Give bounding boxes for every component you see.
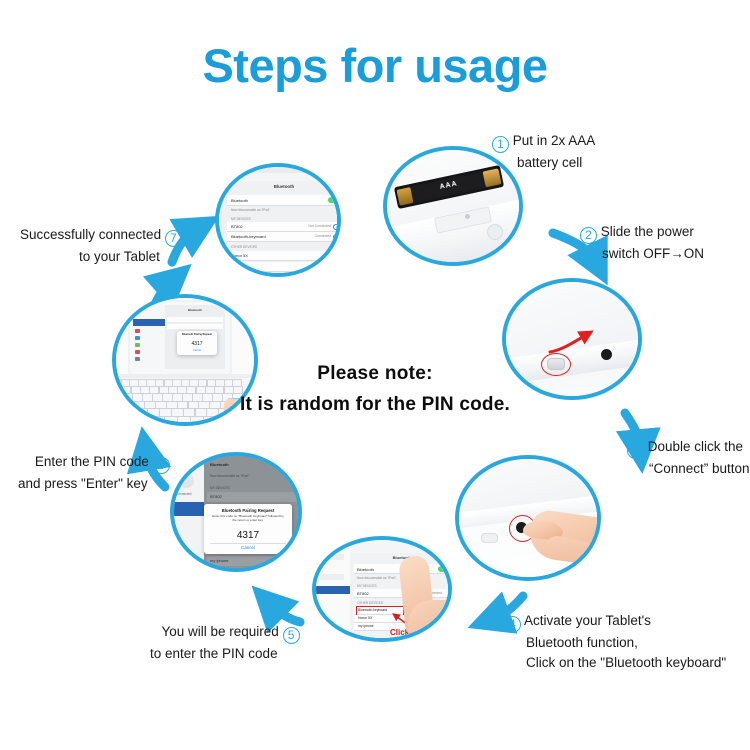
nav-title: Bluetooth <box>165 308 225 312</box>
step-number-1: 1 <box>492 136 509 153</box>
keyboard-key[interactable] <box>203 416 217 422</box>
row-label-bluetooth-keyboard[interactable]: Bluetooth-keyboard <box>231 234 266 239</box>
step-3-line-1: Double click the <box>648 439 743 454</box>
step-label-4: 4 Activate your Tablet's Bluetooth funct… <box>504 611 726 673</box>
nav-title: Bluetooth <box>210 462 229 467</box>
dialog-subtitle: Enter this code on "Bluetooth Keyboard" … <box>204 515 292 523</box>
keyboard-key[interactable] <box>125 416 139 422</box>
row-label-honor[interactable]: Honor 5X <box>231 253 248 258</box>
row-label-bluetooth: Bluetooth <box>357 567 374 572</box>
step-label-3: 3 Double click the “Connect” button <box>627 437 750 479</box>
keyboard-key[interactable] <box>151 416 165 422</box>
step-1-line-1: Put in 2x AAA <box>513 133 596 148</box>
step-5-line-1: You will be required <box>161 624 278 639</box>
step-label-6: Enter the PIN code 6 and press "Enter" k… <box>18 452 170 494</box>
dialog-cancel-button[interactable]: Cancel <box>177 349 217 352</box>
dialog-cancel-button[interactable]: Cancel <box>204 545 292 550</box>
row-label-my-iphone: my iphone <box>210 558 228 563</box>
row-subtitle: Now discoverable as "iPad". <box>231 208 271 212</box>
keyboard-key[interactable] <box>177 416 191 422</box>
row-label-bluetooth: Bluetooth <box>231 198 248 203</box>
row-subtitle: Now discoverable as "iPad". <box>357 576 397 580</box>
step-4-line-3: Click on the "Bluetooth keyboard" <box>526 655 726 670</box>
row-label-my-iphone[interactable]: my iphone <box>358 624 374 628</box>
step-3-line-2: “Connect” button <box>649 461 750 476</box>
step-1-line-2: battery cell <box>517 155 582 170</box>
row-subtitle: Now discoverable as "iPad". <box>210 474 250 478</box>
tablet-screen: 09:36 100% Bluetooth Bluetooth Now disco… <box>223 173 337 273</box>
step-7-line-2: to your Tablet <box>79 249 160 264</box>
step-number-5: 5 <box>283 627 300 644</box>
dialog-title: Bluetooth Pairing Request <box>177 333 217 336</box>
keyboard-key[interactable] <box>190 416 204 422</box>
step-4-line-1: Activate your Tablet's <box>524 613 651 628</box>
keyboard-key[interactable] <box>164 416 178 422</box>
nav-title: Bluetooth <box>350 555 448 560</box>
row-label-bt802[interactable]: BT802 <box>231 224 243 229</box>
highlighted-row <box>316 586 350 594</box>
pin-code: 4317 <box>177 341 217 347</box>
panel-step-7-connected-list: 09:36 100% Bluetooth Bluetooth Now disco… <box>215 163 341 277</box>
group-header-my-devices: MY DEVICES <box>231 217 251 221</box>
note-heading: Please note: <box>0 363 750 385</box>
panel-step-3-connect-button <box>455 455 601 581</box>
group-header-my-devices: MY DEVICES <box>210 486 230 490</box>
step-4-line-2: Bluetooth function, <box>526 635 638 650</box>
row-label-bt802[interactable]: BT802 <box>357 591 369 596</box>
group-header-other-devices: OTHER DEVICES <box>231 245 257 249</box>
pin-code: 4317 <box>204 530 292 541</box>
row-value-bluetooth-keyboard: Connected <box>315 234 331 238</box>
step-2-line-2: switch OFF→ON <box>602 246 704 261</box>
step-label-2: 2 Slide the power switch OFF→ON <box>580 222 704 264</box>
infographic-canvas: Steps for usage <box>0 0 750 750</box>
panel-step-4-bluetooth-list: Bluetooth Bluetooth Now discoverable as … <box>312 536 452 642</box>
step-label-5: You will be required 5 to enter the PIN … <box>150 622 300 664</box>
pairing-dialog: Bluetooth Pairing Request Enter this cod… <box>204 504 292 554</box>
step-number-6: 6 <box>153 457 170 474</box>
info-icon[interactable] <box>333 234 337 240</box>
bluetooth-toggle[interactable] <box>438 566 448 572</box>
row-label-bt802: BT802 <box>210 494 222 499</box>
step-label-7: Successfully connected 7 to your Tablet <box>20 225 182 267</box>
keyboard-key[interactable] <box>138 416 152 422</box>
page-title: Steps for usage <box>0 38 750 93</box>
group-header-other-devices: OTHER DEVICES <box>357 601 383 605</box>
arrow-4-to-5 <box>270 604 300 622</box>
step-number-2: 2 <box>580 227 597 244</box>
step-number-3: 3 <box>627 442 644 459</box>
step-6-line-1: Enter the PIN code <box>35 454 149 469</box>
row-label-my-iphone[interactable]: my iphone <box>231 264 249 269</box>
step-7-line-1: Successfully connected <box>20 227 161 242</box>
step-label-1: 1 Put in 2x AAA battery cell <box>492 131 595 173</box>
step-2-line-1: Slide the power <box>601 224 694 239</box>
dialog-title: Bluetooth Pairing Request <box>204 508 292 513</box>
step-6-line-2: and press "Enter" key <box>18 476 148 491</box>
row-label-honor[interactable]: Honor 5X <box>358 616 372 620</box>
step-number-4: 4 <box>504 616 521 633</box>
panel-step-5-pairing-request: Connected Bluetooth Now discoverable as … <box>170 452 302 572</box>
port-hole <box>601 349 612 360</box>
step-5-line-2: to enter the PIN code <box>150 646 278 661</box>
red-arrow-icon <box>546 328 598 356</box>
info-icon[interactable] <box>333 224 337 230</box>
step-number-7: 7 <box>165 230 182 247</box>
row-value-bt802: Not Connected <box>308 224 331 228</box>
note-body: It is random for the PIN code. <box>0 394 750 416</box>
group-header-my-devices: MY DEVICES <box>357 584 377 588</box>
row-label-bluetooth-keyboard[interactable]: Bluetooth keyboard <box>358 608 387 612</box>
nav-title: Bluetooth <box>223 184 337 189</box>
bluetooth-toggle[interactable] <box>328 197 337 203</box>
